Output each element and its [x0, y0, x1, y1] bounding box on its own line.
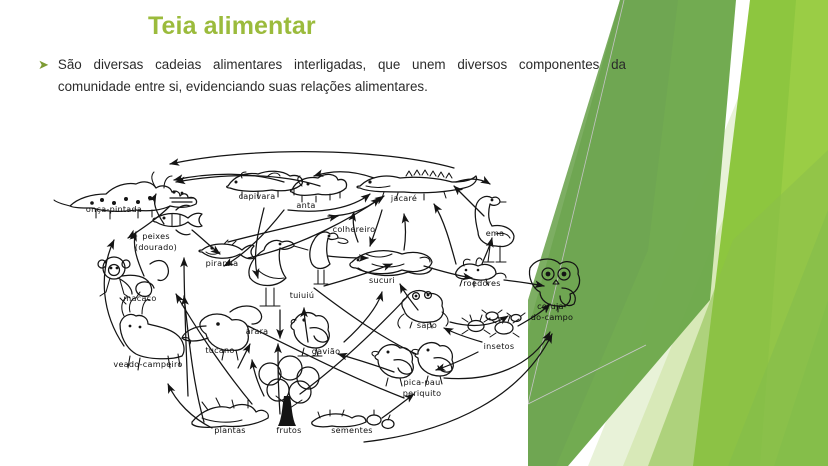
organism-label-sucuri: sucuri: [369, 275, 395, 285]
slide-canvas: Teia alimentar ➤ São diversas cadeias al…: [0, 0, 828, 466]
facet-shape-bright: [693, 0, 828, 466]
organism-label-roedores: roedores: [463, 278, 501, 288]
organism-label-anta: anta: [296, 200, 315, 210]
food-web-svg: onça-pintada peixes (dourado) piranha ca…: [52, 146, 612, 451]
organism-label-plantas: plantas: [214, 425, 246, 435]
page-title: Teia alimentar: [148, 12, 316, 41]
organism-anta: [291, 174, 347, 202]
facet-shape-bright2: [760, 0, 828, 466]
organism-label-macaco: macaco: [123, 293, 156, 303]
organism-label-peixes: peixes: [142, 231, 170, 241]
organism-macaco: [98, 257, 168, 298]
bullet-list: ➤ São diversas cadeias alimentares inter…: [38, 54, 626, 97]
organism-label-jacare: jacaré: [390, 193, 417, 203]
organism-label-tuiuiu: tuiuiú: [290, 290, 315, 300]
bullet-arrow-icon: ➤: [38, 54, 49, 75]
organism-label-veado-campeiro: veado-campeiro: [113, 359, 182, 369]
organism-label-arara: arara: [246, 326, 269, 336]
bullet-item-text: São diversas cadeias alimentares interli…: [58, 54, 626, 97]
organism-label-coruja: coruja-: [537, 301, 567, 311]
food-web-diagram: onça-pintada peixes (dourado) piranha ca…: [52, 146, 612, 451]
organism-colhereiro: [310, 232, 348, 284]
organism-sucuri: [350, 251, 432, 276]
organism-label-pica-pau: pica-pau: [404, 377, 441, 387]
organism-label-piranha: piranha: [206, 258, 239, 268]
organism-label-capivara: capivara: [239, 191, 276, 201]
facet-shape-mid: [658, 300, 828, 466]
facet-shape-pale2: [623, 110, 828, 466]
organism-label-onca-pintada: onça-pintada: [86, 204, 142, 214]
organism-label-ema: ema: [486, 228, 505, 238]
organism-label-colhereiro: colhereiro: [333, 224, 376, 234]
organism-label-sapo: sapo: [417, 320, 437, 330]
organism-label-sementes: sementes: [331, 425, 373, 435]
organism-label-peixes-dourado: (dourado): [135, 242, 177, 252]
organism-label-gaviao: gavião: [312, 346, 341, 356]
organism-label-tucano: tucano: [205, 345, 234, 355]
organism-insetos: [462, 310, 525, 337]
organism-label-insetos: insetos: [484, 341, 515, 351]
organism-label-periquito: periquito: [403, 388, 442, 398]
organism-label-frutos: frutos: [276, 425, 301, 435]
facet-shape-mid3: [648, 150, 828, 466]
organism-label-do-campo: do-campo: [531, 312, 574, 322]
